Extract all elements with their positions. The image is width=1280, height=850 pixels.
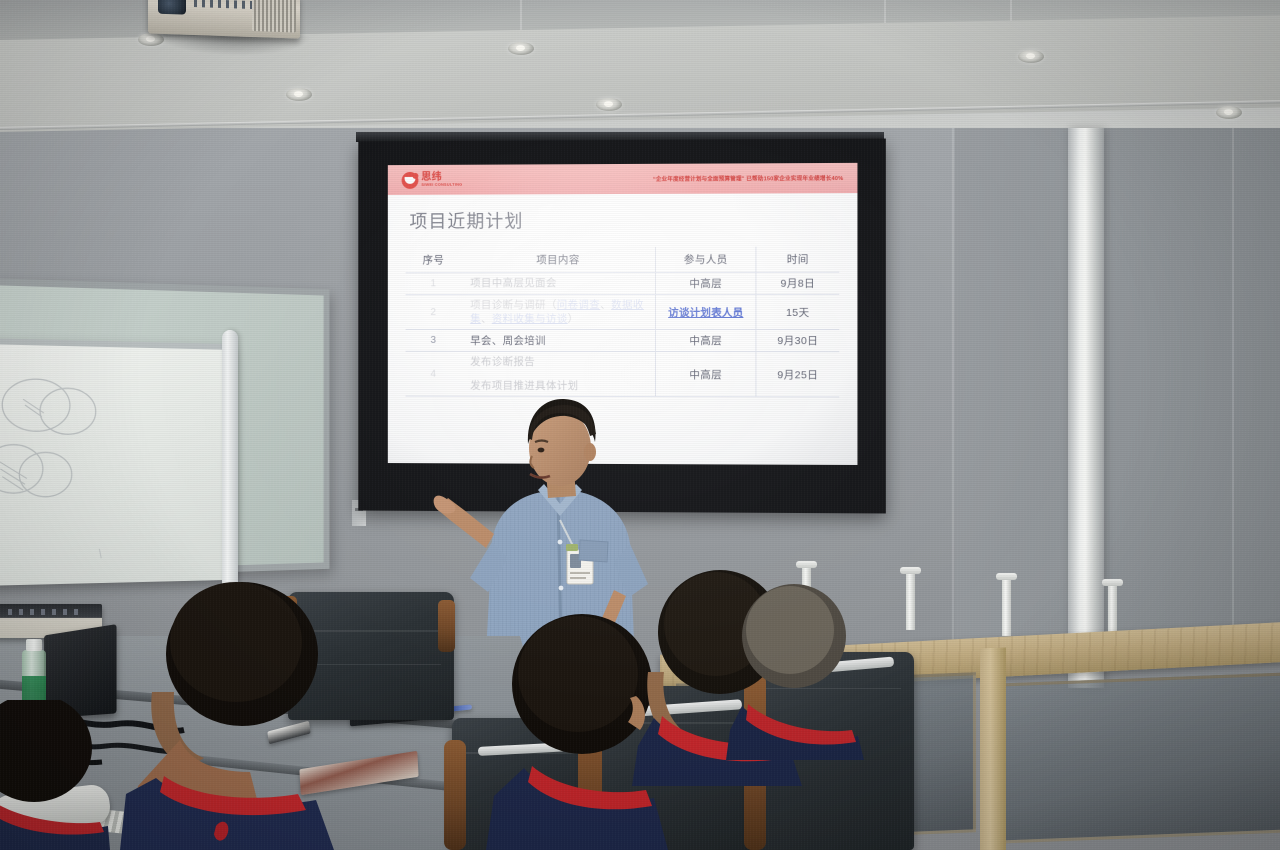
row-time: 9月30日 [756, 330, 839, 352]
ledge-post [980, 648, 1006, 850]
row-index: 1 [406, 273, 462, 295]
projector-buttons [194, 0, 256, 9]
shirt-pocket [579, 540, 608, 562]
audience-member [726, 580, 866, 760]
row-content-prefix: 项目诊断与调研（ [470, 299, 557, 311]
ceiling-downlight [1216, 106, 1242, 119]
table-row: 1 项目中高层见面会 中高层 9月8日 [406, 272, 840, 295]
slide-banner: 思纬 SIWEI CONSULTING “企业年度经营计划与全面预算管理” 已帮… [388, 163, 858, 195]
ceiling-downlight [286, 88, 312, 101]
table-row: 4 发布诊断报告 发布项目推进具体计划 中高层 9月25日 [406, 352, 840, 397]
col-header-time: 时间 [756, 246, 839, 272]
conference-room-photo: Panaboard 思纬 SIWEI CONSULTING [0, 0, 1280, 850]
table-header-row: 序号 项目内容 参与人员 时间 [406, 246, 840, 272]
presenter-eye [538, 448, 545, 453]
row-index: 2 [406, 295, 462, 330]
company-logo: 思纬 SIWEI CONSULTING [402, 171, 465, 188]
row-people: 中高层 [656, 272, 756, 294]
presenter-ear [584, 443, 596, 461]
table-row: 2 项目诊断与调研（问卷调查、数据收集、资料收集与访谈） 访谈计划表人员 15天 [406, 294, 840, 330]
row-people: 中高层 [656, 330, 756, 352]
row-content-line1: 发布诊断报告 [470, 355, 653, 369]
audience-figure [0, 700, 110, 850]
row-content: 项目诊断与调研（问卷调查、数据收集、资料收集与访谈） [461, 294, 655, 329]
ceiling-downlight [1018, 50, 1044, 63]
banner-tagline-quote: “企业年度经营计划与全面预算管理” [653, 176, 745, 182]
row-time: 9月25日 [756, 352, 839, 397]
audience-figure [120, 572, 370, 850]
banner-tagline-rest: 已帮助150家企业实现年业绩增长40% [746, 176, 843, 182]
glass-partition [1000, 673, 1280, 844]
row-time: 15天 [756, 294, 839, 330]
row-content: 发布诊断报告 发布项目推进具体计划 [461, 352, 655, 397]
ledge-stanchion [1002, 578, 1011, 636]
chair-armrest [444, 740, 466, 850]
row-index: 4 [406, 352, 462, 396]
plan-table: 序号 项目内容 参与人员 时间 1 项目中高层见面会 中高层 9月8日 2 [406, 246, 840, 397]
row-time: 9月8日 [756, 272, 839, 294]
whiteboard-sketch [0, 344, 233, 586]
ceiling-downlight [596, 98, 622, 111]
projector-lens [158, 0, 186, 15]
row-content: 早会、周会培训 [461, 330, 655, 352]
audience-member [0, 700, 110, 850]
audience-hair [0, 700, 92, 802]
chair-armrest [438, 600, 455, 652]
audience-member [120, 572, 370, 850]
row-people-link[interactable]: 访谈计划表人员 [668, 307, 743, 319]
table-row: 3 早会、周会培训 中高层 9月30日 [406, 330, 840, 352]
presenter-hand-raised [434, 496, 456, 514]
col-header-index: 序号 [406, 247, 462, 272]
row-content-link[interactable]: 资料收集与访谈 [492, 313, 568, 325]
ceiling-downlight [508, 42, 534, 55]
logo-text-en: SIWEI CONSULTING [421, 183, 462, 187]
col-header-people: 参与人员 [656, 247, 756, 273]
ledge-stanchion [906, 572, 915, 630]
projector-vent [252, 0, 296, 33]
badge-clip [566, 544, 578, 551]
row-people: 中高层 [656, 352, 756, 397]
row-people: 访谈计划表人员 [656, 294, 756, 329]
col-header-content: 项目内容 [461, 247, 655, 273]
row-content-line2: 发布项目推进具体计划 [470, 378, 653, 392]
row-content: 项目中高层见面会 [461, 272, 655, 294]
row-content-suffix: ） [568, 313, 579, 325]
structural-pillar [1068, 128, 1104, 688]
row-content-link[interactable]: 问卷调查 [557, 299, 600, 311]
logo-text: 思纬 SIWEI CONSULTING [421, 173, 464, 187]
banner-tagline: “企业年度经营计划与全面预算管理” 已帮助150家企业实现年业绩增长40% [653, 174, 843, 183]
ceiling-projector [148, 0, 300, 39]
audience-figure [726, 580, 866, 760]
slide-title: 项目近期计划 [410, 206, 858, 233]
whiteboard[interactable]: Panaboard [0, 338, 233, 586]
row-index: 3 [406, 330, 462, 352]
logo-mark-icon [402, 171, 419, 188]
